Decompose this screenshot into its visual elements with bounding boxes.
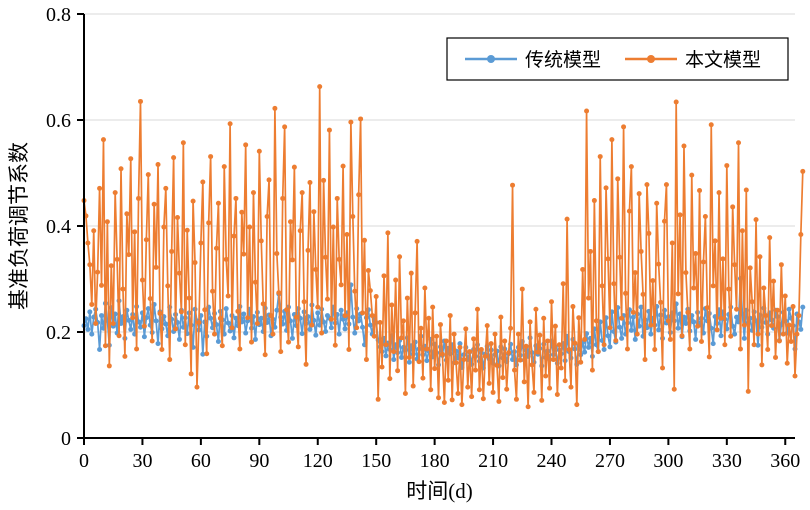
data-point	[294, 315, 299, 320]
data-point	[265, 214, 270, 219]
data-point	[703, 214, 708, 219]
data-point	[666, 318, 671, 323]
data-point	[426, 316, 431, 321]
data-point	[130, 315, 135, 320]
data-point	[138, 99, 143, 104]
data-point	[187, 296, 192, 301]
data-point	[570, 304, 575, 309]
data-point	[208, 316, 213, 321]
data-point	[582, 350, 587, 355]
data-point	[491, 390, 496, 395]
data-point	[438, 322, 443, 327]
data-point	[469, 394, 474, 399]
data-point	[761, 286, 766, 291]
data-point	[676, 291, 681, 296]
data-point	[261, 301, 266, 306]
x-tick-label-360: 360	[770, 450, 800, 472]
data-point	[399, 355, 404, 360]
data-point	[457, 345, 462, 350]
data-point	[502, 339, 507, 344]
data-point	[633, 337, 638, 342]
data-point	[734, 307, 739, 312]
data-point	[352, 331, 357, 336]
data-point	[385, 230, 390, 235]
data-point	[154, 265, 159, 270]
data-point	[528, 319, 533, 324]
x-tick-label-210: 210	[478, 450, 508, 472]
data-point	[452, 332, 457, 337]
data-point	[775, 308, 780, 313]
data-point	[376, 397, 381, 402]
data-point	[767, 235, 772, 240]
data-point	[95, 270, 100, 275]
data-point	[216, 201, 221, 206]
data-point	[442, 400, 447, 405]
data-point	[346, 347, 351, 352]
data-point	[415, 239, 420, 244]
data-point	[274, 251, 279, 256]
data-point	[567, 347, 572, 352]
data-point	[522, 379, 527, 384]
data-point	[183, 342, 188, 347]
data-point	[734, 315, 739, 320]
x-tick-label-240: 240	[537, 450, 567, 472]
data-point	[559, 366, 564, 371]
data-point	[755, 332, 760, 337]
data-point	[785, 361, 790, 366]
data-point	[391, 349, 396, 354]
data-point	[787, 323, 792, 328]
data-point	[381, 273, 386, 278]
data-point	[313, 333, 318, 338]
data-point	[220, 343, 225, 348]
data-point	[789, 339, 794, 344]
data-point	[765, 347, 770, 352]
data-point	[631, 315, 636, 320]
data-point	[269, 313, 274, 318]
data-point	[454, 360, 459, 365]
data-point	[97, 347, 102, 352]
data-point	[329, 317, 334, 322]
data-point	[358, 116, 363, 121]
data-point	[592, 198, 597, 203]
data-point	[177, 337, 182, 342]
legend-marker-2	[647, 55, 655, 63]
data-point	[89, 302, 94, 307]
data-point	[709, 122, 714, 127]
data-point	[794, 332, 799, 337]
legend-label-1: 传统模型	[525, 49, 601, 71]
data-point	[526, 404, 531, 409]
data-point	[113, 190, 118, 195]
data-point	[173, 326, 178, 331]
data-point	[126, 252, 131, 257]
data-point	[339, 308, 344, 313]
data-point	[549, 299, 554, 304]
data-point	[362, 238, 367, 243]
data-point	[609, 137, 614, 142]
data-point	[576, 315, 581, 320]
data-point	[604, 185, 609, 190]
data-point	[496, 399, 501, 404]
data-point	[602, 347, 607, 352]
data-point	[313, 267, 318, 272]
data-point	[87, 309, 92, 314]
data-point	[249, 340, 254, 345]
data-point	[796, 313, 801, 318]
data-point	[306, 248, 311, 253]
data-point	[105, 219, 110, 224]
data-point	[333, 343, 338, 348]
x-tick-label-180: 180	[420, 450, 450, 472]
data-point	[668, 337, 673, 342]
data-point	[660, 366, 665, 371]
data-point	[278, 349, 283, 354]
data-point	[543, 373, 548, 378]
data-point	[705, 305, 710, 310]
data-point	[111, 321, 116, 326]
x-tick-label-0: 0	[79, 450, 89, 472]
data-point	[685, 310, 690, 315]
data-point	[693, 337, 698, 342]
data-point	[693, 251, 698, 256]
x-tick-label-60: 60	[191, 450, 211, 472]
data-point	[635, 332, 640, 337]
data-point	[678, 212, 683, 217]
data-point	[411, 384, 416, 389]
data-point	[623, 291, 628, 296]
data-point	[356, 192, 361, 197]
data-point	[253, 280, 258, 285]
data-point	[720, 256, 725, 261]
x-tick-label-300: 300	[653, 450, 683, 472]
data-point	[146, 172, 151, 177]
data-point	[432, 366, 437, 371]
data-point	[288, 219, 293, 224]
data-point	[757, 254, 762, 259]
data-point	[586, 345, 591, 350]
data-point	[325, 297, 330, 302]
data-point	[584, 108, 589, 113]
data-point	[500, 375, 505, 380]
data-point	[654, 201, 659, 206]
data-point	[226, 320, 231, 325]
data-point	[742, 336, 747, 341]
x-tick-label-330: 330	[712, 450, 742, 472]
data-point	[216, 339, 221, 344]
data-point	[724, 163, 729, 168]
data-point	[218, 316, 223, 321]
data-point	[598, 154, 603, 159]
data-point	[368, 288, 373, 293]
data-point	[391, 357, 396, 362]
data-point	[224, 306, 229, 311]
data-point	[493, 332, 498, 337]
data-point	[393, 278, 398, 283]
data-point	[231, 234, 236, 239]
data-point	[680, 333, 685, 338]
data-point	[800, 305, 805, 310]
data-point	[167, 357, 172, 362]
data-point	[352, 289, 357, 294]
data-point	[169, 249, 174, 254]
data-point	[611, 281, 616, 286]
data-point	[307, 180, 312, 185]
data-point	[350, 214, 355, 219]
data-point	[448, 313, 453, 318]
data-point	[354, 325, 359, 330]
data-point	[405, 296, 410, 301]
data-point	[641, 292, 646, 297]
chart-container: 00.20.40.60.8030609012015018021024027030…	[0, 0, 810, 510]
data-point	[339, 282, 344, 287]
data-point	[619, 316, 624, 321]
data-point	[748, 265, 753, 270]
data-point	[436, 395, 441, 400]
data-point	[280, 196, 285, 201]
data-point	[730, 204, 735, 209]
data-point	[798, 327, 803, 332]
data-point	[387, 376, 392, 381]
data-point	[418, 326, 423, 331]
data-point	[798, 232, 803, 237]
data-point	[284, 307, 289, 312]
data-point	[662, 219, 667, 224]
data-point	[627, 209, 632, 214]
data-point	[752, 342, 757, 347]
data-point	[531, 390, 536, 395]
data-point	[763, 313, 768, 318]
data-point	[366, 268, 371, 273]
data-point	[530, 362, 535, 367]
data-point	[152, 202, 157, 207]
data-point	[485, 323, 490, 328]
data-point	[124, 211, 129, 216]
data-point	[446, 378, 451, 383]
data-point	[150, 339, 155, 344]
y-tick-label-0.2: 0.2	[46, 322, 71, 344]
data-point	[699, 339, 704, 344]
data-point	[311, 209, 316, 214]
data-point	[226, 293, 231, 298]
data-point	[746, 389, 751, 394]
data-point	[282, 124, 287, 129]
data-point	[430, 305, 435, 310]
data-point	[159, 347, 164, 352]
x-tick-label-30: 30	[132, 450, 152, 472]
data-point	[689, 173, 694, 178]
data-point	[535, 350, 540, 355]
data-point	[323, 255, 328, 260]
data-point	[132, 229, 137, 234]
data-point	[290, 257, 295, 262]
data-point	[372, 334, 377, 339]
data-point	[440, 352, 445, 357]
data-point	[200, 180, 205, 185]
data-point	[91, 228, 96, 233]
data-point	[317, 84, 322, 89]
data-point	[695, 324, 700, 329]
data-point	[742, 323, 747, 328]
data-point	[335, 196, 340, 201]
data-point	[711, 341, 716, 346]
data-point	[600, 283, 605, 288]
data-point	[691, 286, 696, 291]
data-point	[156, 162, 161, 167]
data-point	[736, 140, 741, 145]
data-point	[644, 182, 649, 187]
data-point	[368, 323, 373, 328]
data-point	[85, 327, 90, 332]
data-point	[646, 231, 651, 236]
data-point	[343, 313, 348, 318]
data-point	[777, 339, 782, 344]
data-point	[413, 310, 418, 315]
data-point	[237, 346, 242, 351]
data-point	[514, 397, 519, 402]
data-point	[103, 343, 108, 348]
data-point	[594, 318, 599, 323]
data-point	[539, 398, 544, 403]
data-point	[771, 279, 776, 284]
data-point	[163, 186, 168, 191]
y-axis-title: 基准负荷调节系数	[7, 142, 31, 310]
data-point	[267, 177, 272, 182]
data-point	[401, 318, 406, 323]
data-point	[255, 321, 260, 326]
data-point	[726, 287, 731, 292]
data-point	[99, 313, 104, 318]
data-point	[383, 342, 388, 347]
y-tick-label-0.8: 0.8	[46, 4, 71, 26]
data-point	[185, 228, 190, 233]
data-point	[588, 249, 593, 254]
data-point	[551, 357, 556, 362]
data-point	[643, 357, 648, 362]
data-point	[648, 323, 653, 328]
data-point	[241, 252, 246, 257]
data-point	[516, 332, 521, 337]
data-point	[553, 324, 558, 329]
data-point	[450, 397, 455, 402]
data-point	[674, 99, 679, 104]
data-point	[395, 368, 400, 373]
data-point	[779, 262, 784, 267]
data-point	[456, 391, 461, 396]
data-point	[557, 342, 562, 347]
data-point	[489, 341, 494, 346]
data-point	[424, 358, 429, 363]
data-point	[602, 342, 607, 347]
data-point	[228, 121, 233, 126]
data-point	[718, 316, 723, 321]
data-point	[107, 363, 112, 368]
data-point	[319, 331, 324, 336]
data-point	[701, 260, 706, 265]
data-point	[541, 316, 546, 321]
data-point	[321, 178, 326, 183]
data-point	[263, 352, 268, 357]
data-point	[309, 323, 314, 328]
data-point	[259, 238, 264, 243]
data-point	[140, 278, 145, 283]
y-tick-label-0.4: 0.4	[46, 216, 71, 238]
data-point	[191, 199, 196, 204]
data-point	[783, 293, 788, 298]
data-point	[157, 311, 162, 316]
data-point	[465, 385, 470, 390]
data-point	[633, 270, 638, 275]
data-point	[407, 360, 412, 365]
data-point	[769, 323, 774, 328]
data-point	[582, 337, 587, 342]
data-point	[459, 402, 464, 407]
data-point	[383, 353, 388, 358]
data-point	[687, 346, 692, 351]
data-point	[272, 106, 277, 111]
legend-label-2: 本文模型	[685, 49, 761, 71]
data-point	[740, 228, 745, 233]
data-point	[239, 210, 244, 215]
data-point	[656, 327, 661, 332]
y-tick-label-0: 0	[61, 428, 71, 450]
data-point	[154, 318, 159, 323]
data-point	[348, 120, 353, 125]
data-point	[637, 191, 642, 196]
line-chart: 00.20.40.60.8030609012015018021024027030…	[0, 0, 810, 510]
data-point	[119, 166, 124, 171]
data-point	[639, 249, 644, 254]
data-point	[360, 310, 365, 315]
data-point	[331, 225, 336, 230]
data-point	[156, 341, 161, 346]
data-point	[403, 391, 408, 396]
data-point	[498, 315, 503, 320]
data-point	[196, 320, 201, 325]
data-point	[619, 336, 624, 341]
data-point	[87, 262, 92, 267]
data-point	[378, 320, 383, 325]
data-point	[707, 354, 712, 359]
data-point	[97, 186, 102, 191]
data-point	[621, 124, 626, 129]
data-point	[606, 333, 611, 338]
data-point	[341, 164, 346, 169]
data-point	[563, 378, 568, 383]
data-point	[715, 327, 720, 332]
data-point	[565, 217, 570, 222]
data-point	[510, 183, 515, 188]
data-point	[128, 156, 133, 161]
data-point	[629, 164, 634, 169]
data-point	[101, 137, 106, 142]
data-point	[315, 305, 320, 310]
data-point	[607, 344, 612, 349]
data-point	[422, 286, 427, 291]
data-point	[533, 307, 538, 312]
data-point	[128, 327, 133, 332]
data-point	[286, 340, 291, 345]
data-point	[434, 334, 439, 339]
data-point	[656, 262, 661, 267]
data-point	[231, 335, 236, 340]
data-point	[652, 347, 657, 352]
data-point	[615, 176, 620, 181]
data-point	[214, 246, 219, 251]
data-point	[754, 217, 759, 222]
data-point	[315, 310, 320, 315]
data-point	[276, 290, 281, 295]
